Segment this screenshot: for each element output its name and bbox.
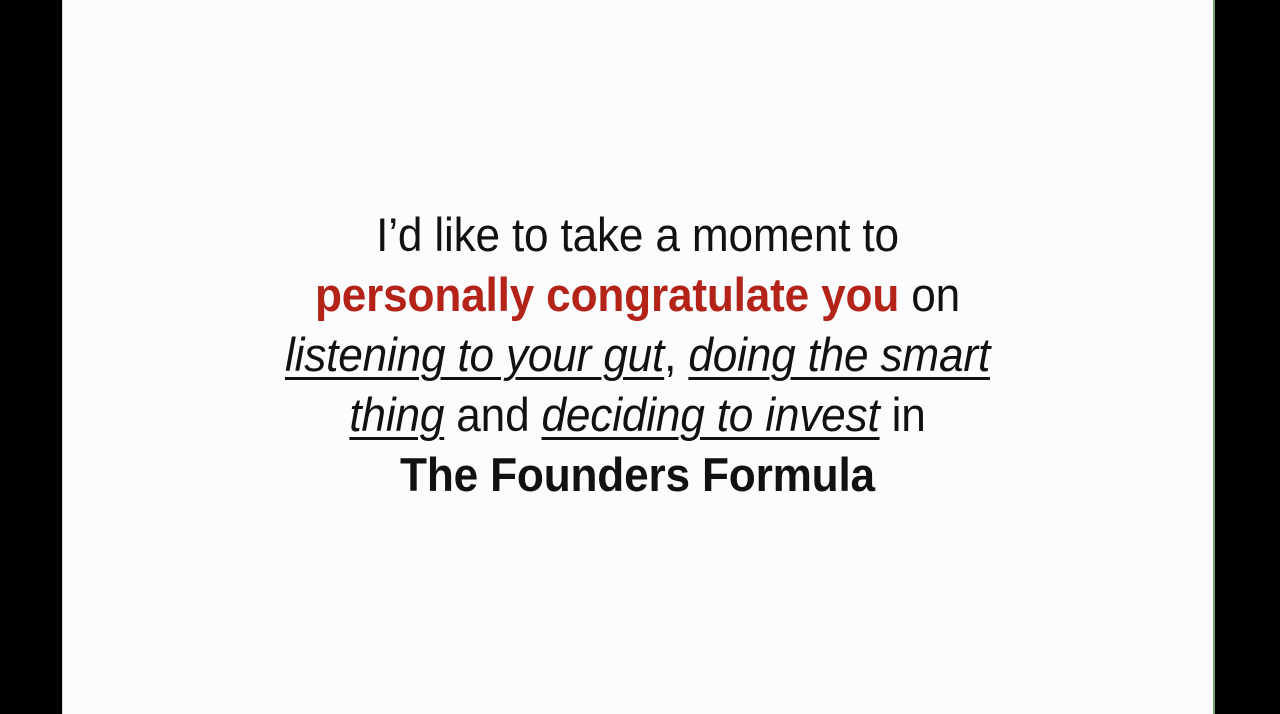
letterbox-bar-right [1215,0,1280,714]
letterbox-bar-left [0,0,62,714]
headline-block: I’d like to take a moment topersonally c… [62,205,1213,505]
headline-segment-emphasis: listening to your gut [285,328,664,381]
headline-line-5: The Founders Formula [97,445,1179,505]
slide-edge-line-right [1213,0,1215,714]
headline-segment-emphasis: deciding to invest [542,388,880,441]
headline-segment-plain: on [899,268,960,321]
headline-segment-plain: I’d like to take a moment to [376,208,899,261]
slide-content-area: I’d like to take a moment topersonally c… [62,0,1213,714]
headline-line-3: listening to your gut, doing the smart [97,325,1179,385]
headline-segment-plain: , [664,328,688,381]
headline-segment-emphasis: doing the smart [688,328,990,381]
headline-segment-plain: in [880,388,926,441]
headline-segment-accent: personally congratulate you [315,268,899,321]
headline-line-4: thing and deciding to invest in [97,385,1179,445]
headline-segment-strong: The Founders Formula [400,448,875,501]
slide-canvas: I’d like to take a moment topersonally c… [62,0,1213,714]
slide-edge-line-left [62,0,63,714]
headline-segment-plain: and [444,388,541,441]
video-viewport: I’d like to take a moment topersonally c… [0,0,1280,714]
headline-line-1: I’d like to take a moment to [97,205,1179,265]
headline-line-2: personally congratulate you on [97,265,1179,325]
headline-segment-emphasis: thing [349,388,444,441]
